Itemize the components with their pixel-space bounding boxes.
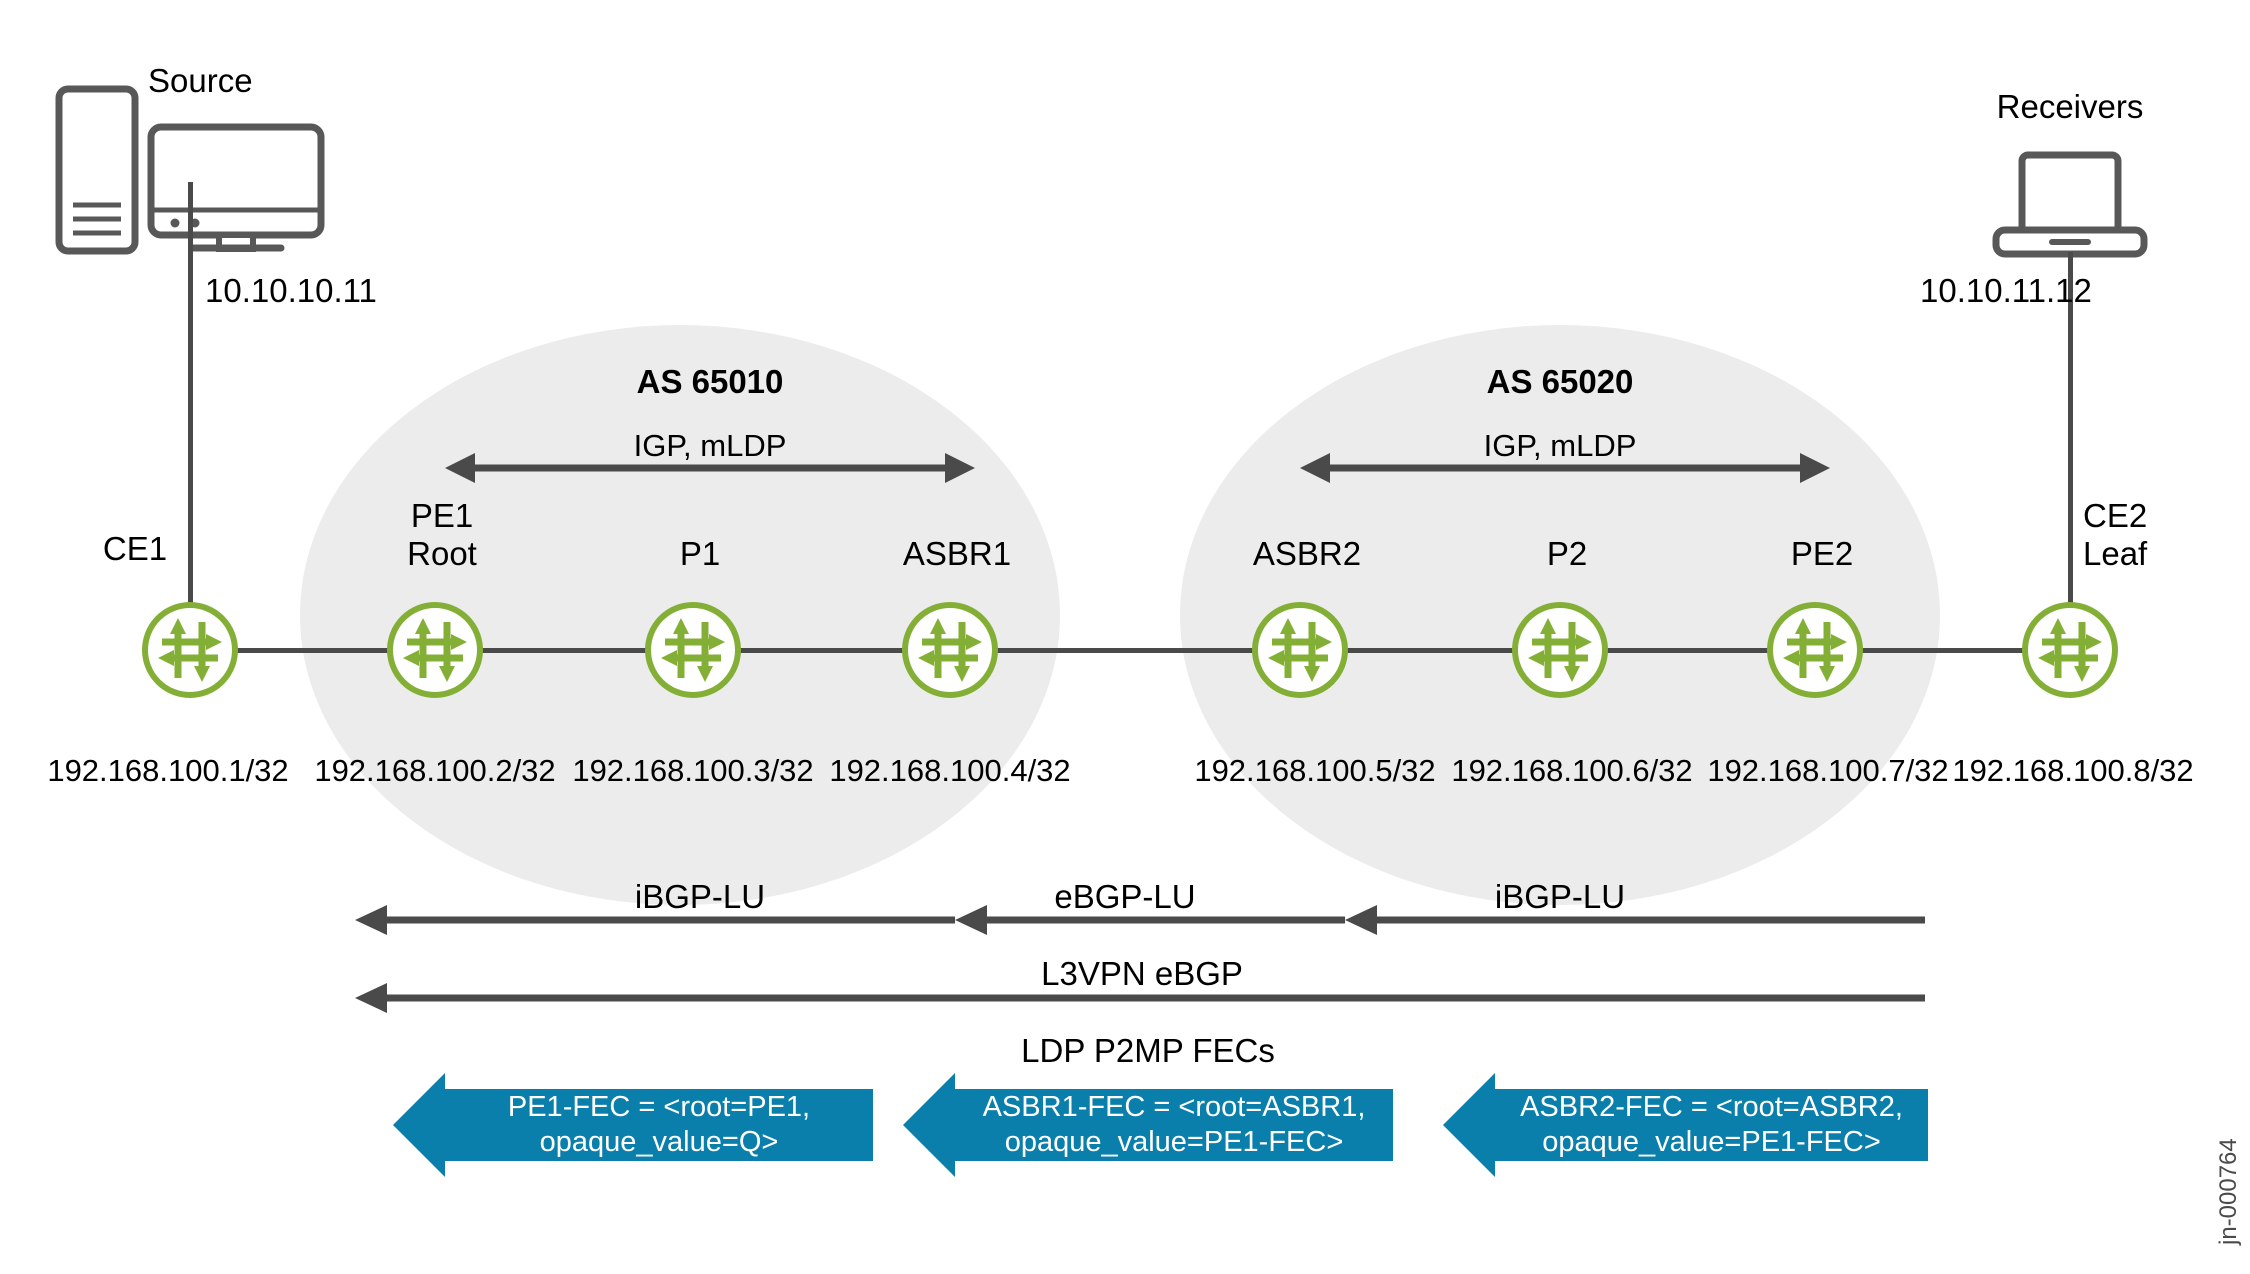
igp-mldp-arrow-as65010 (445, 448, 975, 488)
router-icon-pe1[interactable] (385, 600, 485, 700)
router-icon-asbr1[interactable] (900, 600, 1000, 700)
l3vpn-ebgp-arrow (355, 978, 1925, 1018)
fec-pe1-line1: PE1-FEC = <root=PE1, (508, 1090, 810, 1125)
as-65020-title: AS 65020 (1487, 363, 1634, 402)
router-role-pe1: Root (407, 535, 477, 574)
as-65010-title: AS 65010 (637, 363, 784, 402)
router-loopback-asbr2: 192.168.100.5/32 (1194, 753, 1435, 790)
ibgp-lu-right-arrow (1345, 900, 1925, 940)
ebgp-lu-arrow (955, 900, 1345, 940)
fec-pe1-line2: opaque_value=Q> (508, 1125, 810, 1160)
router-icon-ce1[interactable] (140, 600, 240, 700)
router-icon-p1[interactable] (643, 600, 743, 700)
fec-arrow-asbr2: ASBR2-FEC = <root=ASBR2, opaque_value=PE… (1443, 1073, 1928, 1177)
fec-asbr2-line1: ASBR2-FEC = <root=ASBR2, (1520, 1090, 1903, 1125)
router-icon-ce2[interactable] (2020, 600, 2120, 700)
router-icon-pe2[interactable] (1765, 600, 1865, 700)
source-label: Source (148, 62, 253, 101)
watermark-label: jn-000764 (2215, 1138, 2243, 1245)
router-label-pe2: PE2 (1791, 535, 1853, 574)
router-label-ce2: CE2 (2083, 497, 2147, 536)
router-icon-p2[interactable] (1510, 600, 1610, 700)
igp-mldp-arrow-as65020 (1300, 448, 1830, 488)
receivers-label: Receivers (1997, 88, 2144, 127)
router-loopback-p1: 192.168.100.3/32 (572, 753, 813, 790)
router-loopback-p2: 192.168.100.6/32 (1451, 753, 1692, 790)
router-loopback-ce2: 192.168.100.8/32 (1952, 753, 2193, 790)
router-role-ce2: Leaf (2083, 535, 2147, 574)
router-label-ce1: CE1 (103, 530, 167, 569)
router-label-asbr1: ASBR1 (903, 535, 1011, 574)
router-icon-asbr2[interactable] (1250, 600, 1350, 700)
receivers-to-ce2-link (2068, 252, 2073, 648)
fec-asbr1-line2: opaque_value=PE1-FEC> (983, 1125, 1366, 1160)
receivers-ip-label: 10.10.11.12 (1920, 272, 2092, 311)
fec-asbr1-line1: ASBR1-FEC = <root=ASBR1, (983, 1090, 1366, 1125)
ibgp-lu-left-arrow (355, 900, 955, 940)
fec-arrow-asbr1: ASBR1-FEC = <root=ASBR1, opaque_value=PE… (903, 1073, 1393, 1177)
router-label-asbr2: ASBR2 (1253, 535, 1361, 574)
router-label-p1: P1 (680, 535, 720, 574)
router-loopback-pe1: 192.168.100.2/32 (314, 753, 555, 790)
source-to-ce1-link (188, 182, 193, 648)
source-ip-label: 10.10.10.11 (205, 272, 377, 311)
fec-arrow-pe1: PE1-FEC = <root=PE1, opaque_value=Q> (393, 1073, 873, 1177)
network-diagram-canvas: Source 10.10.10.11 Receivers 10.10.11.12… (0, 0, 2250, 1274)
ldp-p2mp-fecs-title: LDP P2MP FECs (1021, 1032, 1275, 1071)
fec-asbr2-line2: opaque_value=PE1-FEC> (1520, 1125, 1903, 1160)
router-label-pe1: PE1 (411, 497, 473, 536)
router-label-p2: P2 (1547, 535, 1587, 574)
router-loopback-ce1: 192.168.100.1/32 (47, 753, 288, 790)
router-loopback-pe2: 192.168.100.7/32 (1707, 753, 1948, 790)
router-loopback-asbr1: 192.168.100.4/32 (829, 753, 1070, 790)
receivers-laptop-icon (1990, 150, 2150, 260)
